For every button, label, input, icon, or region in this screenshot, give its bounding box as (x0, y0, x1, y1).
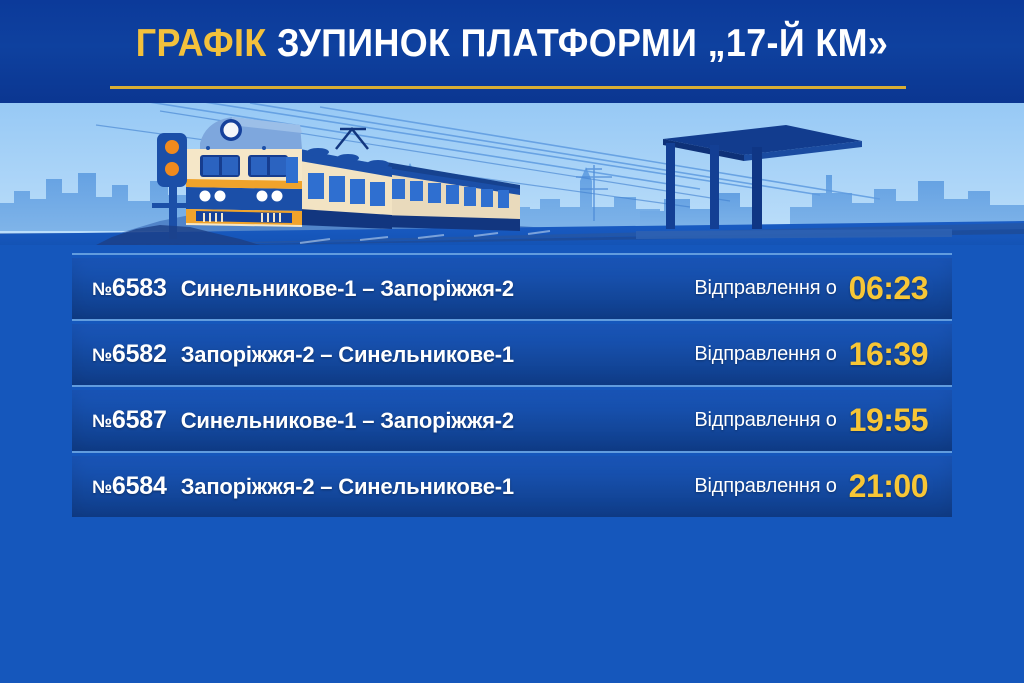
route-label: Запоріжжя-2 – Синельникове-1 (181, 474, 514, 500)
departure-label: Відправлення о (694, 277, 836, 300)
train-number: №6583 (92, 274, 167, 303)
poster-root: ГРАФІК ЗУПИНОК ПЛАТФОРМИ „17-Й КМ» (0, 0, 1024, 683)
page-title: ГРАФІК ЗУПИНОК ПЛАТФОРМИ „17-Й КМ» (41, 22, 983, 66)
train-number-value: 6584 (112, 472, 167, 500)
route-label: Запоріжжя-2 – Синельникове-1 (181, 342, 514, 368)
departure-time: 16:39 (849, 336, 928, 373)
table-row[interactable]: №6583 Синельникове-1 – Запоріжжя-2 Відпр… (72, 258, 952, 319)
number-sign: № (92, 411, 112, 431)
train-number: №6582 (92, 340, 167, 369)
departure-label: Відправлення о (694, 343, 836, 366)
row-train-info: №6587 Синельникове-1 – Запоріжжя-2 (92, 406, 514, 435)
train-number-value: 6583 (112, 274, 167, 302)
train-number: №6584 (92, 472, 167, 501)
route-label: Синельникове-1 – Запоріжжя-2 (181, 408, 514, 434)
row-departure: Відправлення о 06:23 (694, 258, 928, 319)
illustration-band (0, 103, 1024, 245)
schedule-list: №6583 Синельникове-1 – Запоріжжя-2 Відпр… (72, 258, 952, 522)
train-number-value: 6587 (112, 406, 167, 434)
poster-header: ГРАФІК ЗУПИНОК ПЛАТФОРМИ „17-Й КМ» (0, 0, 1024, 103)
train-number: №6587 (92, 406, 167, 435)
row-train-info: №6582 Запоріжжя-2 – Синельникове-1 (92, 340, 514, 369)
row-departure: Відправлення о 21:00 (694, 456, 928, 517)
departure-label: Відправлення о (694, 409, 836, 432)
number-sign: № (92, 477, 112, 497)
departure-time: 21:00 (849, 468, 928, 505)
departure-time: 19:55 (849, 402, 928, 439)
table-row[interactable]: №6587 Синельникове-1 – Запоріжжя-2 Відпр… (72, 390, 952, 451)
title-underline (110, 86, 906, 89)
row-departure: Відправлення о 16:39 (694, 324, 928, 385)
page-title-accent: ГРАФІК (136, 22, 267, 65)
row-train-info: №6584 Запоріжжя-2 – Синельникове-1 (92, 472, 514, 501)
page-title-rest: ЗУПИНОК ПЛАТФОРМИ „17-Й КМ» (267, 22, 889, 65)
departure-time: 06:23 (849, 270, 928, 307)
route-label: Синельникове-1 – Запоріжжя-2 (181, 276, 514, 302)
number-sign: № (92, 279, 112, 299)
departure-label: Відправлення о (694, 475, 836, 498)
table-row[interactable]: №6584 Запоріжжя-2 – Синельникове-1 Відпр… (72, 456, 952, 517)
row-departure: Відправлення о 19:55 (694, 390, 928, 451)
number-sign: № (92, 345, 112, 365)
illustration-svg (0, 103, 1024, 245)
row-train-info: №6583 Синельникове-1 – Запоріжжя-2 (92, 274, 514, 303)
table-row[interactable]: №6582 Запоріжжя-2 – Синельникове-1 Відпр… (72, 324, 952, 385)
train-number-value: 6582 (112, 340, 167, 368)
